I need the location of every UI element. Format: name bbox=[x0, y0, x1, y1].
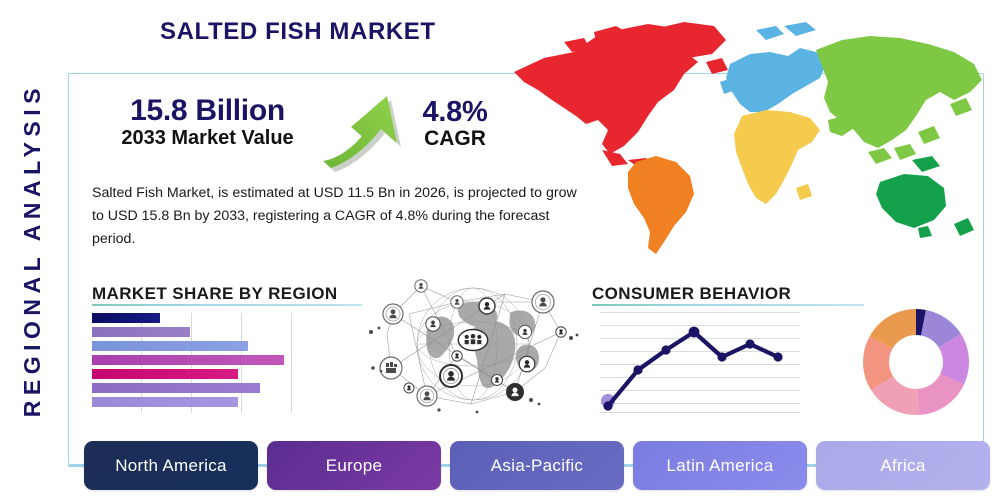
region-donut-chart bbox=[862, 308, 970, 416]
legend-pill-europe[interactable]: Europe bbox=[267, 441, 441, 490]
market-share-heading-rule bbox=[92, 304, 362, 306]
legend-pill-latin-america[interactable]: Latin America bbox=[633, 441, 807, 490]
region-legend: North America Europe Asia-Pacific Latin … bbox=[84, 441, 990, 490]
map-region-asia bbox=[816, 36, 982, 164]
bar-chart-bar bbox=[92, 313, 160, 323]
kpi-market-value-label: 2033 Market Value bbox=[95, 127, 320, 150]
vertical-section-label: REGIONAL ANALYSIS bbox=[10, 45, 54, 455]
legend-pill-north-america[interactable]: North America bbox=[84, 441, 258, 490]
consumer-behavior-heading: CONSUMER BEHAVIOR bbox=[592, 284, 791, 304]
kpi-market-value: 15.8 Billion 2033 Market Value bbox=[95, 95, 320, 150]
kpi-cagr: 4.8% CAGR bbox=[395, 97, 515, 152]
legend-pill-label: Asia-Pacific bbox=[491, 456, 583, 476]
map-region-europe bbox=[720, 22, 836, 112]
bar-chart-bar bbox=[92, 355, 284, 365]
legend-pill-label: Europe bbox=[326, 456, 383, 476]
kpi-cagr-number: 4.8% bbox=[395, 97, 515, 127]
map-region-africa bbox=[734, 110, 820, 204]
bar-chart-gridline bbox=[291, 313, 292, 413]
kpi-cagr-label: CAGR bbox=[395, 127, 515, 151]
map-region-australia bbox=[876, 156, 974, 238]
page-title: SALTED FISH MARKET bbox=[160, 18, 436, 46]
vertical-section-label-text: REGIONAL ANALYSIS bbox=[19, 83, 46, 417]
consumer-behavior-heading-rule bbox=[592, 304, 864, 306]
legend-pill-label: Latin America bbox=[667, 456, 774, 476]
kpi-market-value-number: 15.8 Billion bbox=[95, 95, 320, 127]
line-chart-markers bbox=[603, 327, 782, 411]
legend-pill-africa[interactable]: Africa bbox=[816, 441, 990, 490]
kpi-block: 15.8 Billion 2033 Market Value 4.8% CAGR bbox=[95, 95, 515, 170]
map-region-south-america bbox=[628, 156, 694, 254]
bar-chart-bar bbox=[92, 327, 190, 337]
legend-pill-asia-pacific[interactable]: Asia-Pacific bbox=[450, 441, 624, 490]
bar-chart-bar bbox=[92, 341, 248, 351]
global-network-icon bbox=[365, 272, 580, 420]
bar-chart-bar bbox=[92, 383, 260, 393]
world-map-icon bbox=[498, 12, 990, 264]
legend-pill-label: Africa bbox=[880, 456, 925, 476]
consumer-behavior-line-chart bbox=[600, 312, 800, 416]
legend-pill-label: North America bbox=[115, 456, 227, 476]
bar-chart-bar bbox=[92, 397, 238, 407]
bar-chart-bar bbox=[92, 369, 238, 379]
market-share-bar-chart bbox=[92, 313, 292, 413]
map-region-north-america bbox=[514, 22, 728, 170]
market-share-heading: MARKET SHARE BY REGION bbox=[92, 284, 338, 304]
